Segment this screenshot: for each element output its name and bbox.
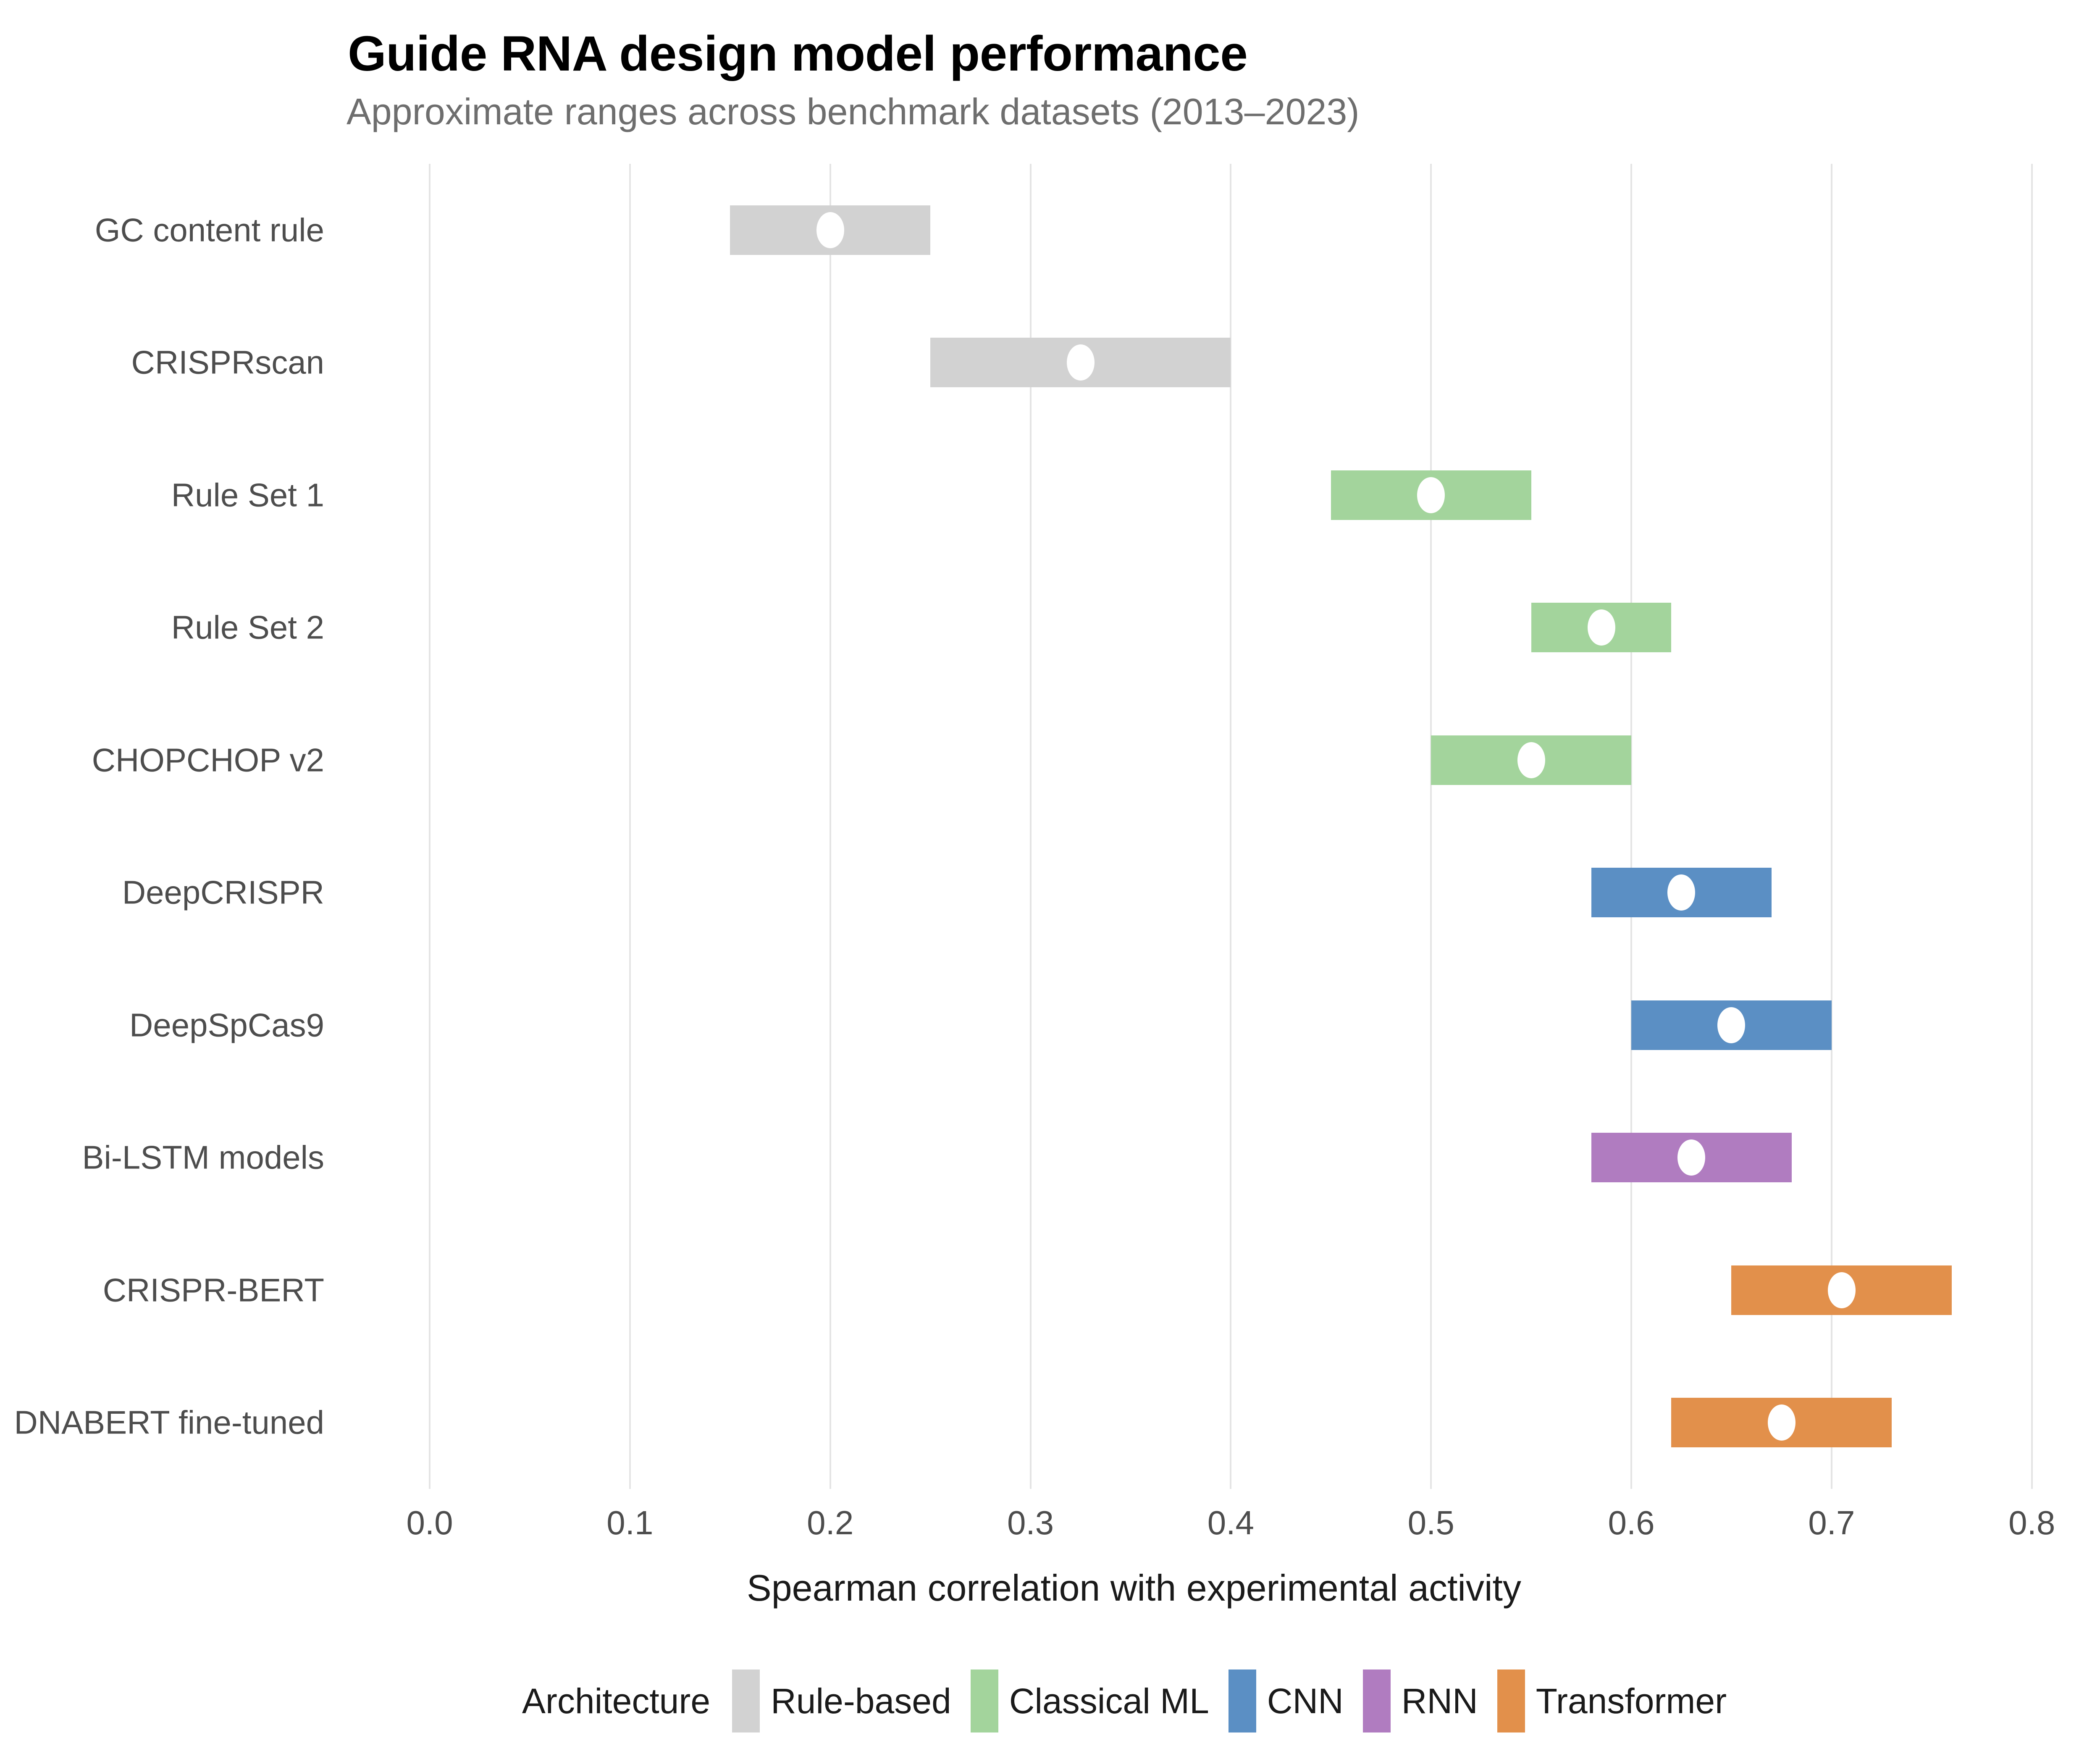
point-estimate-marker[interactable] xyxy=(816,212,844,248)
x-axis-tick-label: 0.1 xyxy=(606,1504,653,1542)
point-estimate-marker[interactable] xyxy=(1828,1272,1856,1308)
y-axis-tick-labels: GC content ruleCRISPRscanRule Set 1Rule … xyxy=(0,164,340,1489)
y-axis-tick-label: GC content rule xyxy=(95,211,324,249)
point-estimate-marker[interactable] xyxy=(1517,742,1545,778)
legend-item[interactable]: RNN xyxy=(1363,1669,1478,1732)
legend-label: CNN xyxy=(1267,1681,1344,1722)
legend-swatch xyxy=(971,1669,998,1732)
legend-swatch xyxy=(1228,1669,1256,1732)
x-axis-tick-label: 0.2 xyxy=(807,1504,853,1542)
x-axis-title: Spearman correlation with experimental a… xyxy=(0,1567,2100,1609)
y-axis-tick-label: CHOPCHOP v2 xyxy=(92,741,324,779)
point-estimate-marker[interactable] xyxy=(1677,1139,1705,1176)
legend: Architecture Rule-basedClassical MLCNNRN… xyxy=(0,1669,2100,1732)
x-axis-tick-label: 0.5 xyxy=(1408,1504,1454,1542)
x-axis-tick-label: 0.6 xyxy=(1608,1504,1654,1542)
y-axis-tick-label: Bi-LSTM models xyxy=(82,1139,324,1177)
gridline xyxy=(429,164,430,1489)
chart-figure: Guide RNA design model performance Appro… xyxy=(0,0,2100,1764)
legend-label: Rule-based xyxy=(771,1681,951,1722)
point-estimate-marker[interactable] xyxy=(1588,609,1615,646)
legend-label: RNN xyxy=(1402,1681,1478,1722)
chart-subtitle: Approximate ranges across benchmark data… xyxy=(346,90,1360,133)
legend-swatch xyxy=(732,1669,760,1732)
legend-label: Classical ML xyxy=(1009,1681,1209,1722)
gridline xyxy=(1630,164,1632,1489)
gridline xyxy=(1430,164,1432,1489)
gridline xyxy=(2031,164,2033,1489)
y-axis-tick-label: DeepCRISPR xyxy=(122,874,324,912)
legend-item[interactable]: Classical ML xyxy=(971,1669,1209,1732)
y-axis-tick-label: DNABERT fine-tuned xyxy=(14,1404,325,1442)
x-axis-tick-label: 0.8 xyxy=(2008,1504,2055,1542)
legend-item[interactable]: CNN xyxy=(1228,1669,1344,1732)
point-estimate-marker[interactable] xyxy=(1667,874,1695,911)
y-axis-tick-label: Rule Set 1 xyxy=(171,476,324,514)
y-axis-tick-label: CRISPR-BERT xyxy=(103,1271,324,1309)
x-axis-tick-label: 0.0 xyxy=(406,1504,453,1542)
point-estimate-marker[interactable] xyxy=(1717,1007,1745,1043)
y-axis-tick-label: DeepSpCas9 xyxy=(129,1006,324,1044)
legend-swatch xyxy=(1497,1669,1525,1732)
plot-panel xyxy=(370,164,2100,1489)
legend-swatch xyxy=(1363,1669,1391,1732)
legend-label: Transformer xyxy=(1536,1681,1727,1722)
legend-item[interactable]: Rule-based xyxy=(732,1669,951,1732)
point-estimate-marker[interactable] xyxy=(1067,344,1095,381)
gridline xyxy=(629,164,631,1489)
gridline xyxy=(829,164,831,1489)
y-axis-tick-label: Rule Set 2 xyxy=(171,609,324,647)
y-axis-tick-label: CRISPRscan xyxy=(131,344,324,382)
x-axis-tick-label: 0.3 xyxy=(1007,1504,1054,1542)
legend-item[interactable]: Transformer xyxy=(1497,1669,1727,1732)
x-axis-tick-label: 0.4 xyxy=(1207,1504,1254,1542)
legend-title: Architecture xyxy=(522,1681,710,1722)
chart-title: Guide RNA design model performance xyxy=(348,25,1247,82)
point-estimate-marker[interactable] xyxy=(1768,1404,1795,1441)
point-estimate-marker[interactable] xyxy=(1417,477,1445,513)
x-axis-tick-label: 0.7 xyxy=(1808,1504,1855,1542)
x-axis-tick-labels: 0.00.10.20.30.40.50.60.70.8 xyxy=(370,1504,2100,1554)
